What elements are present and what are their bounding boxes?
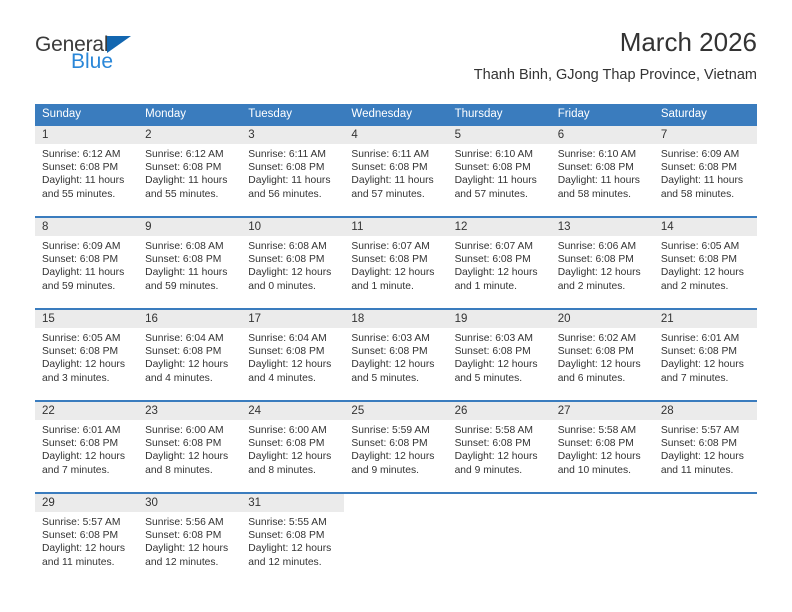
day-cell[interactable]: 27Sunrise: 5:58 AMSunset: 6:08 PMDayligh… [551,401,654,485]
spacer-cell [448,301,551,309]
daylight-text-line1: Daylight: 12 hours [42,358,132,371]
daylight-text-line2: and 57 minutes. [455,188,545,201]
spacer-cell [138,393,241,401]
day-number: 11 [344,218,447,236]
daylight-text-line1: Daylight: 12 hours [145,358,235,371]
day-number: 18 [344,310,447,328]
daylight-text-line2: and 5 minutes. [351,372,441,385]
day-info: Sunrise: 5:58 AMSunset: 6:08 PMDaylight:… [448,420,551,477]
sunrise-text: Sunrise: 6:02 AM [558,332,648,345]
daylight-text-line1: Daylight: 12 hours [248,450,338,463]
day-number: 24 [241,402,344,420]
sunrise-text: Sunrise: 5:57 AM [661,424,751,437]
daylight-text-line2: and 6 minutes. [558,372,648,385]
daylight-text-line1: Daylight: 12 hours [42,450,132,463]
day-cell[interactable]: 8Sunrise: 6:09 AMSunset: 6:08 PMDaylight… [35,217,138,301]
day-cell[interactable]: 18Sunrise: 6:03 AMSunset: 6:08 PMDayligh… [344,309,447,393]
day-number: 9 [138,218,241,236]
sunrise-text: Sunrise: 6:04 AM [248,332,338,345]
brand-name-blue: Blue [71,51,235,72]
sunrise-text: Sunrise: 6:07 AM [351,240,441,253]
sunrise-text: Sunrise: 6:05 AM [661,240,751,253]
sunset-text: Sunset: 6:08 PM [42,529,132,542]
daylight-text-line2: and 55 minutes. [42,188,132,201]
daylight-text-line2: and 58 minutes. [661,188,751,201]
sunrise-text: Sunrise: 6:11 AM [351,148,441,161]
day-info: Sunrise: 6:10 AMSunset: 6:08 PMDaylight:… [448,144,551,201]
day-cell[interactable]: 20Sunrise: 6:02 AMSunset: 6:08 PMDayligh… [551,309,654,393]
daylight-text-line1: Daylight: 11 hours [661,174,751,187]
daylight-text-line1: Daylight: 11 hours [351,174,441,187]
sunset-text: Sunset: 6:08 PM [455,437,545,450]
day-number: 14 [654,218,757,236]
day-info: Sunrise: 5:57 AMSunset: 6:08 PMDaylight:… [654,420,757,477]
sunset-text: Sunset: 6:08 PM [42,161,132,174]
daylight-text-line1: Daylight: 12 hours [455,450,545,463]
day-number [551,494,654,512]
daylight-text-line1: Daylight: 12 hours [351,450,441,463]
day-cell[interactable]: 29Sunrise: 5:57 AMSunset: 6:08 PMDayligh… [35,493,138,577]
day-cell[interactable]: 28Sunrise: 5:57 AMSunset: 6:08 PMDayligh… [654,401,757,485]
sunset-text: Sunset: 6:08 PM [661,253,751,266]
calendar-body: 1Sunrise: 6:12 AMSunset: 6:08 PMDaylight… [35,125,757,577]
spacer-cell [654,485,757,493]
sunset-text: Sunset: 6:08 PM [558,161,648,174]
daylight-text-line1: Daylight: 12 hours [661,358,751,371]
day-cell[interactable]: 15Sunrise: 6:05 AMSunset: 6:08 PMDayligh… [35,309,138,393]
day-info: Sunrise: 6:05 AMSunset: 6:08 PMDaylight:… [654,236,757,293]
sunrise-text: Sunrise: 6:07 AM [455,240,545,253]
sunrise-text: Sunrise: 5:59 AM [351,424,441,437]
daylight-text-line1: Daylight: 12 hours [248,542,338,555]
day-cell[interactable]: 7Sunrise: 6:09 AMSunset: 6:08 PMDaylight… [654,125,757,209]
daylight-text-line1: Daylight: 11 hours [145,266,235,279]
day-cell[interactable]: 22Sunrise: 6:01 AMSunset: 6:08 PMDayligh… [35,401,138,485]
sunrise-text: Sunrise: 6:06 AM [558,240,648,253]
daylight-text-line2: and 57 minutes. [351,188,441,201]
day-cell[interactable]: 30Sunrise: 5:56 AMSunset: 6:08 PMDayligh… [138,493,241,577]
sunset-text: Sunset: 6:08 PM [351,345,441,358]
brand-logo[interactable]: General Blue [35,34,235,86]
spacer-cell [448,393,551,401]
day-number: 13 [551,218,654,236]
daylight-text-line1: Daylight: 12 hours [558,450,648,463]
day-info: Sunrise: 6:05 AMSunset: 6:08 PMDaylight:… [35,328,138,385]
sunset-text: Sunset: 6:08 PM [558,345,648,358]
calendar-week-row: 29Sunrise: 5:57 AMSunset: 6:08 PMDayligh… [35,493,757,577]
daylight-text-line1: Daylight: 12 hours [455,358,545,371]
spacer-cell [344,301,447,309]
sunrise-text: Sunrise: 6:00 AM [145,424,235,437]
spacer-cell [654,393,757,401]
day-info: Sunrise: 5:56 AMSunset: 6:08 PMDaylight:… [138,512,241,569]
spacer-cell [448,209,551,217]
spacer-cell [344,393,447,401]
day-cell[interactable]: 4Sunrise: 6:11 AMSunset: 6:08 PMDaylight… [344,125,447,209]
day-cell[interactable]: 6Sunrise: 6:10 AMSunset: 6:08 PMDaylight… [551,125,654,209]
calendar-week-row: 22Sunrise: 6:01 AMSunset: 6:08 PMDayligh… [35,401,757,485]
daylight-text-line2: and 12 minutes. [145,556,235,569]
day-info: Sunrise: 6:11 AMSunset: 6:08 PMDaylight:… [241,144,344,201]
daylight-text-line2: and 2 minutes. [661,280,751,293]
day-info: Sunrise: 6:09 AMSunset: 6:08 PMDaylight:… [35,236,138,293]
weekday-header-friday: Friday [551,104,654,125]
day-number: 7 [654,126,757,144]
day-number: 25 [344,402,447,420]
sunrise-text: Sunrise: 6:09 AM [661,148,751,161]
title-block: March 2026 Thanh Binh, GJong Thap Provin… [474,28,757,83]
daylight-text-line1: Daylight: 11 hours [248,174,338,187]
sunrise-text: Sunrise: 6:08 AM [248,240,338,253]
daylight-text-line1: Daylight: 12 hours [248,358,338,371]
day-info: Sunrise: 5:59 AMSunset: 6:08 PMDaylight:… [344,420,447,477]
sunrise-text: Sunrise: 6:10 AM [558,148,648,161]
day-cell[interactable]: 23Sunrise: 6:00 AMSunset: 6:08 PMDayligh… [138,401,241,485]
sunset-text: Sunset: 6:08 PM [145,437,235,450]
sunrise-text: Sunrise: 6:10 AM [455,148,545,161]
week-spacer [35,393,757,401]
day-cell-empty [448,493,551,577]
spacer-cell [35,393,138,401]
calendar-week-row: 1Sunrise: 6:12 AMSunset: 6:08 PMDaylight… [35,125,757,209]
sunset-text: Sunset: 6:08 PM [558,253,648,266]
day-cell[interactable]: 5Sunrise: 6:10 AMSunset: 6:08 PMDaylight… [448,125,551,209]
sunset-text: Sunset: 6:08 PM [351,437,441,450]
daylight-text-line1: Daylight: 12 hours [661,450,751,463]
spacer-cell [654,209,757,217]
sunrise-text: Sunrise: 5:55 AM [248,516,338,529]
day-number: 1 [35,126,138,144]
sunset-text: Sunset: 6:08 PM [455,345,545,358]
daylight-text-line2: and 7 minutes. [661,372,751,385]
day-cell[interactable]: 25Sunrise: 5:59 AMSunset: 6:08 PMDayligh… [344,401,447,485]
spacer-cell [344,209,447,217]
calendar-week-row: 8Sunrise: 6:09 AMSunset: 6:08 PMDaylight… [35,217,757,301]
day-info: Sunrise: 6:07 AMSunset: 6:08 PMDaylight:… [344,236,447,293]
sunrise-text: Sunrise: 6:01 AM [42,424,132,437]
daylight-text-line2: and 11 minutes. [42,556,132,569]
spacer-cell [35,301,138,309]
day-cell[interactable]: 12Sunrise: 6:07 AMSunset: 6:08 PMDayligh… [448,217,551,301]
sunrise-text: Sunrise: 6:09 AM [42,240,132,253]
day-number: 21 [654,310,757,328]
daylight-text-line2: and 8 minutes. [145,464,235,477]
daylight-text-line1: Daylight: 12 hours [248,266,338,279]
day-number: 4 [344,126,447,144]
sunset-text: Sunset: 6:08 PM [42,437,132,450]
daylight-text-line1: Daylight: 12 hours [145,450,235,463]
spacer-cell [138,209,241,217]
daylight-text-line2: and 11 minutes. [661,464,751,477]
sunset-text: Sunset: 6:08 PM [248,345,338,358]
sunrise-text: Sunrise: 5:58 AM [558,424,648,437]
spacer-cell [138,301,241,309]
day-number: 15 [35,310,138,328]
page-title: March 2026 [474,28,757,58]
day-cell[interactable]: 31Sunrise: 5:55 AMSunset: 6:08 PMDayligh… [241,493,344,577]
day-cell[interactable]: 19Sunrise: 6:03 AMSunset: 6:08 PMDayligh… [448,309,551,393]
sunrise-text: Sunrise: 6:01 AM [661,332,751,345]
spacer-cell [241,393,344,401]
sunrise-text: Sunrise: 6:03 AM [351,332,441,345]
weekday-header-tuesday: Tuesday [241,104,344,125]
day-cell[interactable]: 3Sunrise: 6:11 AMSunset: 6:08 PMDaylight… [241,125,344,209]
daylight-text-line2: and 7 minutes. [42,464,132,477]
day-number: 17 [241,310,344,328]
daylight-text-line1: Daylight: 12 hours [455,266,545,279]
spacer-cell [35,209,138,217]
day-info: Sunrise: 6:02 AMSunset: 6:08 PMDaylight:… [551,328,654,385]
day-info: Sunrise: 6:12 AMSunset: 6:08 PMDaylight:… [35,144,138,201]
spacer-cell [551,301,654,309]
sunset-text: Sunset: 6:08 PM [42,253,132,266]
day-info: Sunrise: 6:01 AMSunset: 6:08 PMDaylight:… [654,328,757,385]
daylight-text-line1: Daylight: 11 hours [42,174,132,187]
spacer-cell [35,485,138,493]
day-info: Sunrise: 6:03 AMSunset: 6:08 PMDaylight:… [344,328,447,385]
sunset-text: Sunset: 6:08 PM [145,161,235,174]
daylight-text-line2: and 9 minutes. [455,464,545,477]
day-cell-empty [551,493,654,577]
spacer-cell [241,301,344,309]
day-info: Sunrise: 6:00 AMSunset: 6:08 PMDaylight:… [241,420,344,477]
daylight-text-line2: and 12 minutes. [248,556,338,569]
daylight-text-line1: Daylight: 12 hours [351,358,441,371]
daylight-text-line1: Daylight: 12 hours [145,542,235,555]
daylight-text-line2: and 4 minutes. [145,372,235,385]
calendar-table: SundayMondayTuesdayWednesdayThursdayFrid… [35,104,757,577]
day-number: 22 [35,402,138,420]
daylight-text-line2: and 8 minutes. [248,464,338,477]
day-number: 20 [551,310,654,328]
day-info: Sunrise: 6:04 AMSunset: 6:08 PMDaylight:… [241,328,344,385]
weekday-header-wednesday: Wednesday [344,104,447,125]
calendar-header-row: SundayMondayTuesdayWednesdayThursdayFrid… [35,104,757,125]
sunrise-text: Sunrise: 6:05 AM [42,332,132,345]
day-info: Sunrise: 6:08 AMSunset: 6:08 PMDaylight:… [241,236,344,293]
sunrise-text: Sunrise: 6:00 AM [248,424,338,437]
day-info: Sunrise: 6:12 AMSunset: 6:08 PMDaylight:… [138,144,241,201]
sunrise-text: Sunrise: 6:08 AM [145,240,235,253]
sunset-text: Sunset: 6:08 PM [42,345,132,358]
spacer-cell [241,485,344,493]
daylight-text-line1: Daylight: 12 hours [558,266,648,279]
calendar-page: General Blue March 2026 Thanh Binh, GJon… [0,0,792,612]
daylight-text-line2: and 10 minutes. [558,464,648,477]
sunrise-text: Sunrise: 6:12 AM [42,148,132,161]
page-subtitle: Thanh Binh, GJong Thap Province, Vietnam [474,67,757,83]
sunset-text: Sunset: 6:08 PM [351,161,441,174]
spacer-cell [551,393,654,401]
day-cell-empty [654,493,757,577]
day-info: Sunrise: 6:03 AMSunset: 6:08 PMDaylight:… [448,328,551,385]
sunset-text: Sunset: 6:08 PM [248,253,338,266]
day-info: Sunrise: 6:01 AMSunset: 6:08 PMDaylight:… [35,420,138,477]
day-info: Sunrise: 6:00 AMSunset: 6:08 PMDaylight:… [138,420,241,477]
daylight-text-line1: Daylight: 11 hours [42,266,132,279]
day-number: 16 [138,310,241,328]
day-number: 31 [241,494,344,512]
day-cell[interactable]: 21Sunrise: 6:01 AMSunset: 6:08 PMDayligh… [654,309,757,393]
day-number: 10 [241,218,344,236]
sunset-text: Sunset: 6:08 PM [661,437,751,450]
spacer-cell [551,485,654,493]
day-cell[interactable]: 24Sunrise: 6:00 AMSunset: 6:08 PMDayligh… [241,401,344,485]
day-cell[interactable]: 11Sunrise: 6:07 AMSunset: 6:08 PMDayligh… [344,217,447,301]
sunset-text: Sunset: 6:08 PM [248,437,338,450]
week-spacer [35,485,757,493]
daylight-text-line1: Daylight: 12 hours [558,358,648,371]
day-cell[interactable]: 26Sunrise: 5:58 AMSunset: 6:08 PMDayligh… [448,401,551,485]
spacer-cell [344,485,447,493]
daylight-text-line2: and 59 minutes. [145,280,235,293]
day-number [654,494,757,512]
sunrise-text: Sunrise: 6:03 AM [455,332,545,345]
daylight-text-line2: and 3 minutes. [42,372,132,385]
day-number: 30 [138,494,241,512]
day-cell[interactable]: 16Sunrise: 6:04 AMSunset: 6:08 PMDayligh… [138,309,241,393]
sunset-text: Sunset: 6:08 PM [455,161,545,174]
day-number [344,494,447,512]
daylight-text-line2: and 56 minutes. [248,188,338,201]
spacer-cell [138,485,241,493]
day-number: 19 [448,310,551,328]
daylight-text-line1: Daylight: 12 hours [42,542,132,555]
daylight-text-line1: Daylight: 12 hours [351,266,441,279]
sunset-text: Sunset: 6:08 PM [145,345,235,358]
daylight-text-line1: Daylight: 11 hours [455,174,545,187]
sunset-text: Sunset: 6:08 PM [661,161,751,174]
day-cell[interactable]: 17Sunrise: 6:04 AMSunset: 6:08 PMDayligh… [241,309,344,393]
day-cell[interactable]: 1Sunrise: 6:12 AMSunset: 6:08 PMDaylight… [35,125,138,209]
day-number: 8 [35,218,138,236]
spacer-cell [448,485,551,493]
sunrise-text: Sunrise: 5:56 AM [145,516,235,529]
day-info: Sunrise: 5:58 AMSunset: 6:08 PMDaylight:… [551,420,654,477]
sunset-text: Sunset: 6:08 PM [248,529,338,542]
weekday-header-sunday: Sunday [35,104,138,125]
day-number [448,494,551,512]
daylight-text-line2: and 1 minute. [351,280,441,293]
weekday-header-saturday: Saturday [654,104,757,125]
daylight-text-line2: and 5 minutes. [455,372,545,385]
day-number: 29 [35,494,138,512]
daylight-text-line2: and 59 minutes. [42,280,132,293]
sunrise-text: Sunrise: 5:58 AM [455,424,545,437]
daylight-text-line2: and 2 minutes. [558,280,648,293]
day-cell[interactable]: 10Sunrise: 6:08 AMSunset: 6:08 PMDayligh… [241,217,344,301]
day-info: Sunrise: 5:55 AMSunset: 6:08 PMDaylight:… [241,512,344,569]
sunset-text: Sunset: 6:08 PM [351,253,441,266]
week-spacer [35,301,757,309]
day-number: 5 [448,126,551,144]
sunset-text: Sunset: 6:08 PM [145,253,235,266]
spacer-cell [241,209,344,217]
day-number: 6 [551,126,654,144]
week-spacer [35,209,757,217]
sunrise-text: Sunrise: 6:11 AM [248,148,338,161]
day-info: Sunrise: 6:09 AMSunset: 6:08 PMDaylight:… [654,144,757,201]
sunset-text: Sunset: 6:08 PM [248,161,338,174]
page-header: General Blue March 2026 Thanh Binh, GJon… [35,28,757,96]
daylight-text-line2: and 0 minutes. [248,280,338,293]
day-info: Sunrise: 6:08 AMSunset: 6:08 PMDaylight:… [138,236,241,293]
day-number: 26 [448,402,551,420]
day-cell[interactable]: 13Sunrise: 6:06 AMSunset: 6:08 PMDayligh… [551,217,654,301]
weekday-header-monday: Monday [138,104,241,125]
sunrise-text: Sunrise: 5:57 AM [42,516,132,529]
daylight-text-line2: and 1 minute. [455,280,545,293]
day-number: 28 [654,402,757,420]
weekday-header-thursday: Thursday [448,104,551,125]
daylight-text-line1: Daylight: 11 hours [145,174,235,187]
day-number: 2 [138,126,241,144]
day-cell[interactable]: 9Sunrise: 6:08 AMSunset: 6:08 PMDaylight… [138,217,241,301]
sunset-text: Sunset: 6:08 PM [455,253,545,266]
day-info: Sunrise: 6:07 AMSunset: 6:08 PMDaylight:… [448,236,551,293]
daylight-text-line1: Daylight: 12 hours [661,266,751,279]
day-info: Sunrise: 6:04 AMSunset: 6:08 PMDaylight:… [138,328,241,385]
spacer-cell [654,301,757,309]
spacer-cell [551,209,654,217]
day-number: 27 [551,402,654,420]
daylight-text-line1: Daylight: 11 hours [558,174,648,187]
sunset-text: Sunset: 6:08 PM [558,437,648,450]
day-info: Sunrise: 6:06 AMSunset: 6:08 PMDaylight:… [551,236,654,293]
day-cell[interactable]: 2Sunrise: 6:12 AMSunset: 6:08 PMDaylight… [138,125,241,209]
day-info: Sunrise: 6:10 AMSunset: 6:08 PMDaylight:… [551,144,654,201]
day-number: 23 [138,402,241,420]
daylight-text-line2: and 4 minutes. [248,372,338,385]
day-info: Sunrise: 6:11 AMSunset: 6:08 PMDaylight:… [344,144,447,201]
day-number: 12 [448,218,551,236]
sunrise-text: Sunrise: 6:04 AM [145,332,235,345]
calendar-week-row: 15Sunrise: 6:05 AMSunset: 6:08 PMDayligh… [35,309,757,393]
day-info: Sunrise: 5:57 AMSunset: 6:08 PMDaylight:… [35,512,138,569]
daylight-text-line2: and 55 minutes. [145,188,235,201]
sunset-text: Sunset: 6:08 PM [661,345,751,358]
daylight-text-line2: and 58 minutes. [558,188,648,201]
sunset-text: Sunset: 6:08 PM [145,529,235,542]
day-number: 3 [241,126,344,144]
daylight-text-line2: and 9 minutes. [351,464,441,477]
sunrise-text: Sunrise: 6:12 AM [145,148,235,161]
day-cell-empty [344,493,447,577]
day-cell[interactable]: 14Sunrise: 6:05 AMSunset: 6:08 PMDayligh… [654,217,757,301]
